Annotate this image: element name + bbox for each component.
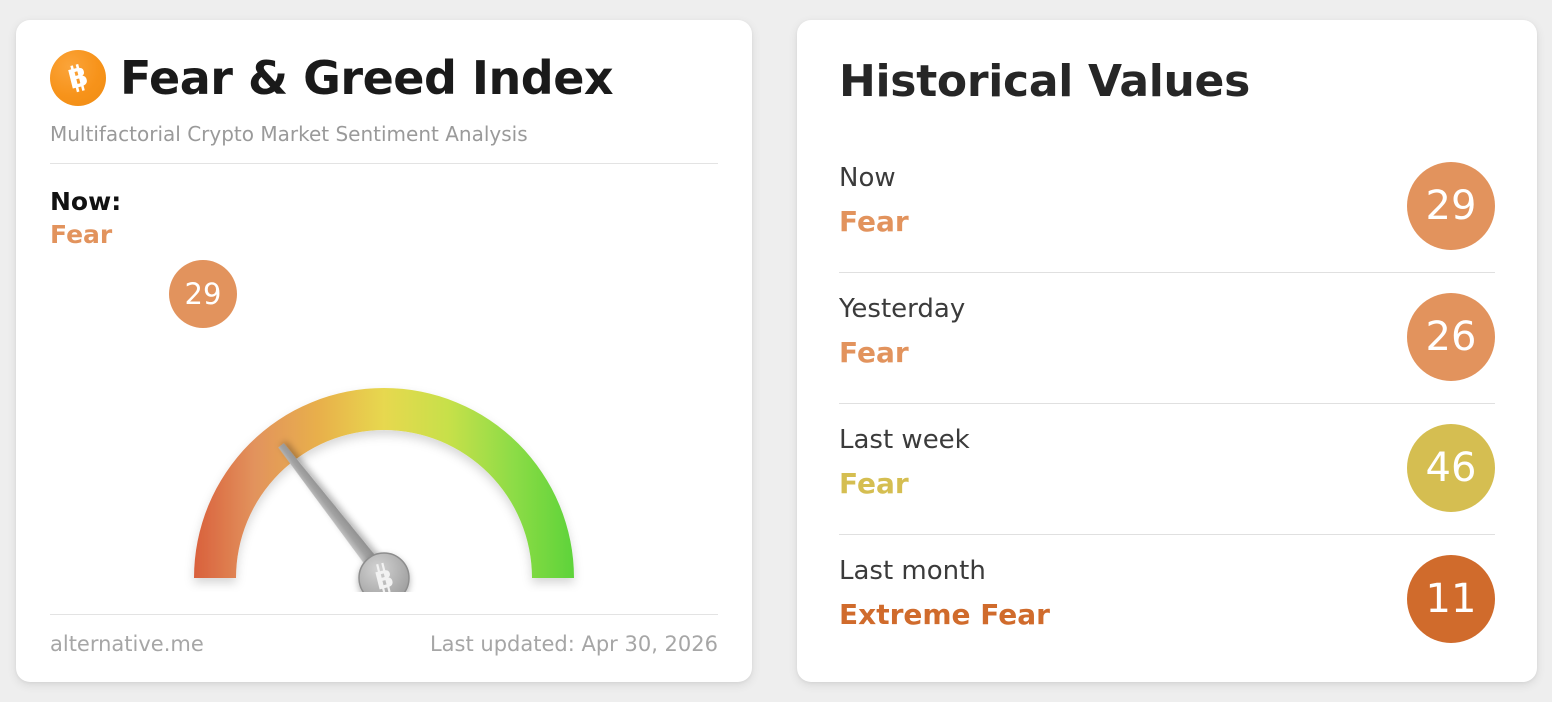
- card-subtitle: Multifactorial Crypto Market Sentiment A…: [50, 122, 718, 146]
- table-row[interactable]: Now Fear 29: [839, 142, 1495, 273]
- row-value-badge: 26: [1407, 293, 1495, 381]
- last-updated-label: Last updated: Apr 30, 2026: [430, 632, 718, 656]
- row-classification: Fear: [839, 467, 970, 501]
- header-divider: [50, 163, 718, 164]
- card-footer: alternative.me Last updated: Apr 30, 202…: [50, 614, 718, 656]
- historical-values-list: Now Fear 29 Yesterday Fear 26 Last week …: [839, 142, 1495, 665]
- row-period: Last week: [839, 424, 970, 457]
- gauge-value-badge: 29: [169, 260, 237, 328]
- page-title: Fear & Greed Index: [120, 55, 613, 101]
- row-classification: Fear: [839, 336, 965, 370]
- row-classification: Extreme Fear: [839, 598, 1050, 632]
- table-row[interactable]: Last week Fear 46: [839, 404, 1495, 535]
- row-classification: Fear: [839, 205, 909, 239]
- bitcoin-icon: B: [50, 50, 106, 106]
- fear-greed-dashboard: B Fear & Greed Index Multifactorial Cryp…: [0, 0, 1552, 702]
- gauge: B 29: [50, 252, 718, 592]
- table-row[interactable]: Yesterday Fear 26: [839, 273, 1495, 404]
- historical-values-title: Historical Values: [839, 60, 1495, 104]
- row-period: Now: [839, 162, 909, 195]
- table-row[interactable]: Last month Extreme Fear 11: [839, 535, 1495, 665]
- row-period: Last month: [839, 555, 1050, 588]
- now-classification: Fear: [50, 221, 718, 250]
- row-value-badge: 46: [1407, 424, 1495, 512]
- row-period: Yesterday: [839, 293, 965, 326]
- historical-values-card: Historical Values Now Fear 29 Yesterday …: [797, 20, 1537, 682]
- fear-greed-index-card: B Fear & Greed Index Multifactorial Cryp…: [16, 20, 752, 682]
- card-header: B Fear & Greed Index: [50, 50, 718, 106]
- row-value-badge: 29: [1407, 162, 1495, 250]
- footer-divider: [50, 614, 718, 615]
- now-label: Now:: [50, 188, 718, 217]
- source-link[interactable]: alternative.me: [50, 632, 204, 656]
- row-value-badge: 11: [1407, 555, 1495, 643]
